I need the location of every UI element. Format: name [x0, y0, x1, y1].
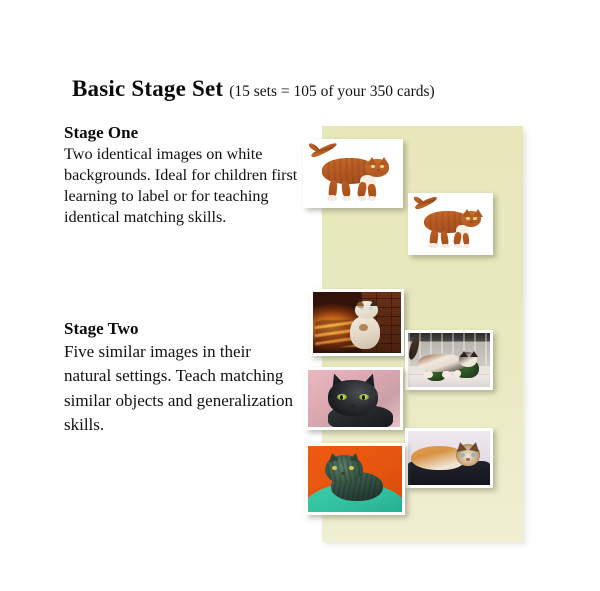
scene-white-background-2 [411, 196, 490, 252]
stage-two-body: Five similar images in their natural set… [64, 340, 300, 437]
photo-card-orange-tabby-2 [408, 193, 493, 255]
scene-fireplace [313, 292, 401, 353]
stage-one-heading: Stage One [64, 122, 300, 143]
photo-card-white-cat-fireplace [310, 289, 404, 356]
scene-black-cat-pink [308, 370, 400, 427]
stage-two-section: Stage Two Five similar images in their n… [64, 318, 300, 437]
stage-one-section: Stage One Two identical images on white … [64, 122, 300, 229]
photo-card-orange-tabby-1 [303, 139, 403, 208]
photo-card-ragdoll-cushion [405, 428, 493, 488]
title-main-text: Basic Stage Set [72, 76, 223, 101]
photo-card-persian-teal [305, 443, 405, 515]
scene-porch [408, 333, 490, 387]
scene-persian-orange [308, 446, 402, 512]
photo-card-calico-porch [405, 330, 493, 390]
page-title: Basic Stage Set(15 sets = 105 of your 35… [72, 76, 435, 102]
scene-ragdoll-cushion [408, 431, 490, 485]
page-root: Basic Stage Set(15 sets = 105 of your 35… [0, 0, 600, 591]
scene-white-background-1 [306, 142, 400, 205]
title-subtitle-text: (15 sets = 105 of your 350 cards) [229, 83, 434, 100]
stage-one-body: Two identical images on white background… [64, 144, 300, 228]
stage-two-heading: Stage Two [64, 318, 300, 339]
photo-card-black-cat [305, 367, 403, 430]
